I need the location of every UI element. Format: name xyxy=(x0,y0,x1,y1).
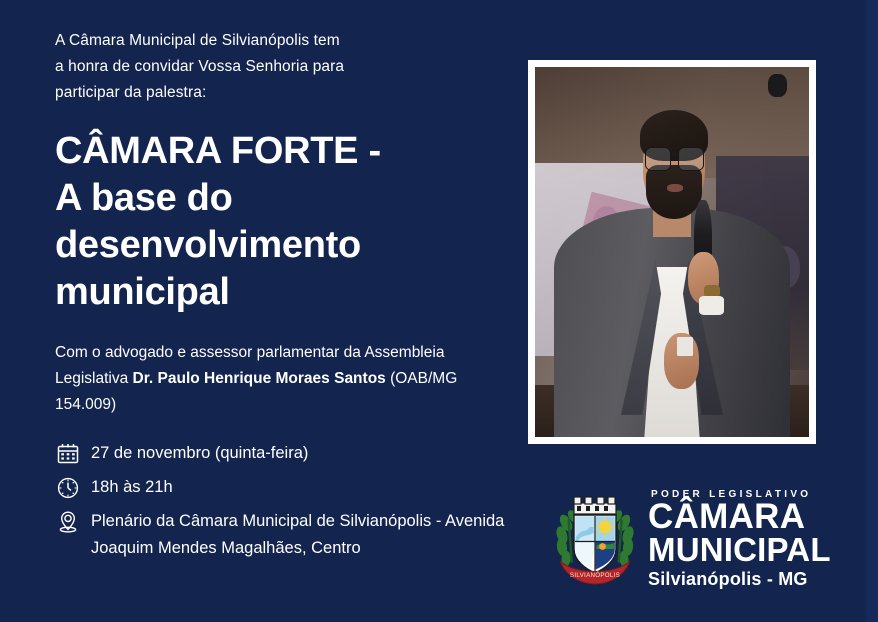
logo-wordmark: PODER LEGISLATIVO CÂMARA MUNICIPAL Silvi… xyxy=(648,487,831,590)
camara-logo: SILVIANÓPOLIS PODER LEGISLATIVO CÂMARA M… xyxy=(552,486,852,590)
intro-line-1: A Câmara Municipal de Silvianópolis tem xyxy=(55,28,505,54)
headline-line-2: A base do xyxy=(55,175,505,222)
speaker-credit: Com o advogado e assessor parlamentar da… xyxy=(55,340,480,418)
right-edge-strip xyxy=(866,0,878,622)
intro-line-2: a honra de convidar Vossa Senhoria para xyxy=(55,54,505,80)
detail-text-date: 27 de novembro (quinta-feira) xyxy=(91,440,308,467)
detail-row-date: 27 de novembro (quinta-feira) xyxy=(55,440,505,467)
detail-row-location: Plenário da Câmara Municipal de Silvianó… xyxy=(55,508,505,562)
clock-icon xyxy=(55,475,81,501)
page-title: CÂMARA FORTE - A base do desenvolvimento… xyxy=(55,128,505,316)
svg-text:SILVIANÓPOLIS: SILVIANÓPOLIS xyxy=(570,572,620,579)
logo-line-city: Silvianópolis - MG xyxy=(648,568,831,590)
headline-line-3: desenvolvimento xyxy=(55,222,505,269)
photo-person-beard xyxy=(646,165,702,219)
detail-row-time: 18h às 21h xyxy=(55,474,505,501)
calendar-icon xyxy=(55,441,81,467)
coat-of-arms-icon: SILVIANÓPOLIS xyxy=(552,489,638,587)
speaker-photo-frame xyxy=(528,60,816,444)
left-content-column: A Câmara Municipal de Silvianópolis tem … xyxy=(55,28,505,569)
photo-ceiling-camera xyxy=(768,74,787,96)
detail-text-time: 18h às 21h xyxy=(91,474,173,501)
invitation-poster: A Câmara Municipal de Silvianópolis tem … xyxy=(0,0,878,622)
speaker-name: Dr. Paulo Henrique Moraes Santos xyxy=(133,370,386,387)
logo-line-municipal: MUNICIPAL xyxy=(648,533,831,566)
photo-person-cuff xyxy=(699,296,724,315)
headline-line-1: CÂMARA FORTE - xyxy=(55,128,505,175)
photo-person-badge xyxy=(677,337,692,356)
detail-text-location: Plenário da Câmara Municipal de Silvianó… xyxy=(91,508,505,562)
intro-paragraph: A Câmara Municipal de Silvianópolis tem … xyxy=(55,28,505,106)
headline-line-4: municipal xyxy=(55,269,505,316)
intro-line-3: participar da palestra: xyxy=(55,80,505,106)
event-details-list: 27 de novembro (quinta-feira) xyxy=(55,440,505,562)
speaker-photo xyxy=(535,67,809,437)
logo-line-camara: CÂMARA xyxy=(648,500,831,533)
photo-person-glasses xyxy=(645,147,704,171)
photo-person-mouth xyxy=(667,184,683,192)
location-pin-icon xyxy=(55,509,81,535)
